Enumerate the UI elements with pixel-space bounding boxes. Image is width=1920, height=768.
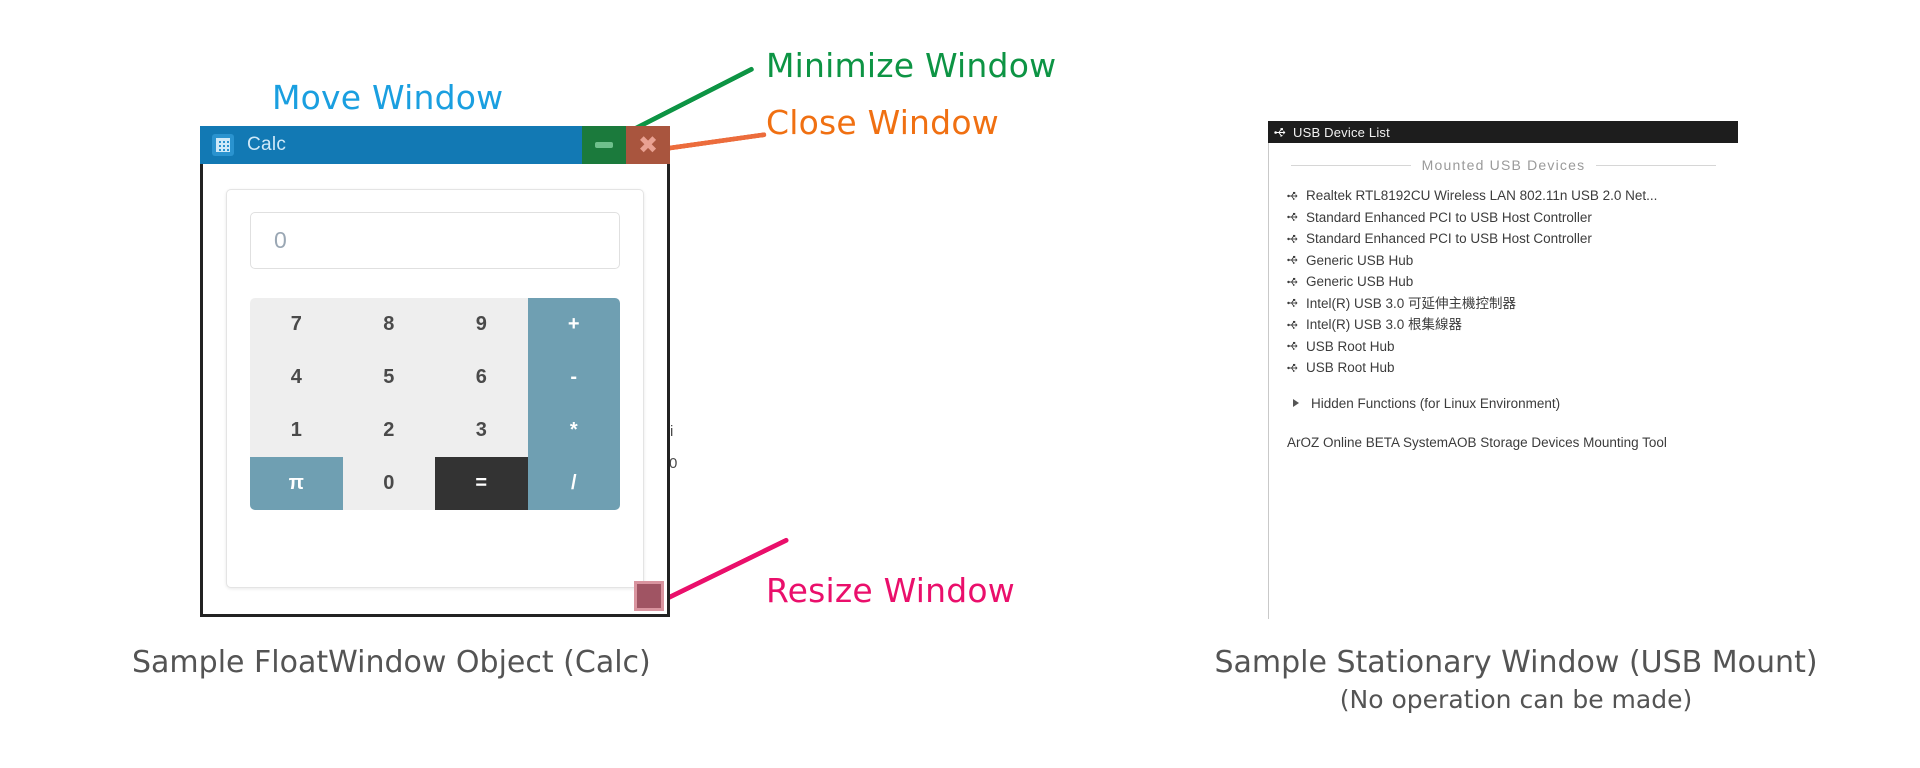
usb-device-item: Generic USB Hub xyxy=(1287,250,1720,272)
calc-key-3[interactable]: 3 xyxy=(435,404,528,457)
calc-key-minus[interactable]: - xyxy=(528,351,621,404)
stationary-window-usb-mount: USB Device List Mounted USB Devices Real… xyxy=(1268,121,1738,619)
usb-device-item: Standard Enhanced PCI to USB Host Contro… xyxy=(1287,207,1720,229)
calc-card: 0 7 8 9 + 4 5 6 - 1 2 3 * π 0 = / xyxy=(226,189,644,588)
usb-device-list: Realtek RTL8192CU Wireless LAN 802.11n U… xyxy=(1287,185,1720,379)
usb-device-label: Generic USB Hub xyxy=(1306,254,1413,268)
calc-window-body: 0 7 8 9 + 4 5 6 - 1 2 3 * π 0 = / xyxy=(200,164,670,617)
usb-icon xyxy=(1287,276,1299,288)
usb-device-label: Generic USB Hub xyxy=(1306,275,1413,289)
minimize-button[interactable] xyxy=(582,126,626,164)
calc-key-multiply[interactable]: * xyxy=(528,404,621,457)
calc-key-9[interactable]: 9 xyxy=(435,298,528,351)
usb-device-label: Intel(R) USB 3.0 可延伸主機控制器 xyxy=(1306,297,1516,311)
usb-device-item: Realtek RTL8192CU Wireless LAN 802.11n U… xyxy=(1287,185,1720,207)
calc-key-2[interactable]: 2 xyxy=(343,404,436,457)
calc-key-plus[interactable]: + xyxy=(528,298,621,351)
annotation-minimize-window: Minimize Window xyxy=(766,46,1056,85)
calc-key-4[interactable]: 4 xyxy=(250,351,343,404)
usb-device-item: Intel(R) USB 3.0 可延伸主機控制器 xyxy=(1287,293,1720,315)
usb-titlebar: USB Device List xyxy=(1268,121,1738,143)
usb-icon xyxy=(1274,126,1287,139)
calc-key-6[interactable]: 6 xyxy=(435,351,528,404)
background-text-fragment-1: i xyxy=(670,423,673,440)
usb-icon xyxy=(1287,340,1299,352)
usb-device-label: Standard Enhanced PCI to USB Host Contro… xyxy=(1306,211,1592,225)
resize-handle[interactable] xyxy=(634,581,664,611)
usb-device-label: Intel(R) USB 3.0 根集線器 xyxy=(1306,318,1462,332)
divider-rule-right xyxy=(1596,165,1716,166)
hidden-functions-label: Hidden Functions (for Linux Environment) xyxy=(1311,396,1560,411)
usb-device-label: Realtek RTL8192CU Wireless LAN 802.11n U… xyxy=(1306,189,1657,203)
calc-key-pi[interactable]: π xyxy=(250,457,343,510)
usb-device-label: USB Root Hub xyxy=(1306,361,1395,375)
usb-device-label: Standard Enhanced PCI to USB Host Contro… xyxy=(1306,232,1592,246)
leader-line-close xyxy=(659,132,766,147)
calc-key-7[interactable]: 7 xyxy=(250,298,343,351)
usb-icon xyxy=(1287,211,1299,223)
background-text-fragment-2: 0 xyxy=(669,455,677,472)
annotation-resize-window: Resize Window xyxy=(766,571,1015,610)
calc-key-0[interactable]: 0 xyxy=(343,457,436,510)
usb-section-header-label: Mounted USB Devices xyxy=(1422,157,1586,173)
leader-line-minimize xyxy=(617,66,752,135)
close-icon: ✖ xyxy=(638,133,658,157)
calc-key-5[interactable]: 5 xyxy=(343,351,436,404)
calc-display-input[interactable]: 0 xyxy=(250,212,620,269)
annotation-close-window: Close Window xyxy=(766,103,999,142)
usb-footer-text: ArOZ Online BETA SystemAOB Storage Devic… xyxy=(1287,435,1720,450)
usb-window-title: USB Device List xyxy=(1293,125,1390,140)
caption-float-window: Sample FloatWindow Object (Calc) xyxy=(132,645,651,680)
usb-device-label: USB Root Hub xyxy=(1306,340,1395,354)
calc-window-title: Calc xyxy=(247,134,286,156)
caption-stationary-main: Sample Stationary Window (USB Mount) xyxy=(1214,645,1817,680)
usb-icon xyxy=(1287,297,1299,309)
usb-device-item: USB Root Hub xyxy=(1287,336,1720,358)
usb-icon xyxy=(1287,190,1299,202)
usb-icon xyxy=(1287,362,1299,374)
calculator-icon xyxy=(212,134,234,156)
close-button[interactable]: ✖ xyxy=(626,126,670,164)
annotation-move-window: Move Window xyxy=(272,78,503,117)
usb-window-body: Mounted USB Devices Realtek RTL8192CU Wi… xyxy=(1268,143,1738,619)
usb-device-item: Intel(R) USB 3.0 根集線器 xyxy=(1287,314,1720,336)
caption-stationary-window: Sample Stationary Window (USB Mount) (No… xyxy=(1136,645,1896,714)
divider-rule-left xyxy=(1291,165,1411,166)
usb-device-item: USB Root Hub xyxy=(1287,357,1720,379)
usb-device-item: Standard Enhanced PCI to USB Host Contro… xyxy=(1287,228,1720,250)
usb-icon xyxy=(1287,254,1299,266)
float-window-calc[interactable]: Calc ✖ 0 7 8 9 + 4 5 6 - 1 2 3 * xyxy=(200,126,670,617)
minimize-icon xyxy=(595,142,613,148)
calc-key-equals[interactable]: = xyxy=(435,457,528,510)
calc-key-1[interactable]: 1 xyxy=(250,404,343,457)
calc-key-divide[interactable]: / xyxy=(528,457,621,510)
calc-key-8[interactable]: 8 xyxy=(343,298,436,351)
calc-keypad: 7 8 9 + 4 5 6 - 1 2 3 * π 0 = / xyxy=(250,298,620,510)
usb-section-header: Mounted USB Devices xyxy=(1291,157,1716,173)
caption-stationary-sub: (No operation can be made) xyxy=(1136,685,1896,714)
calc-titlebar[interactable]: Calc ✖ xyxy=(200,126,670,164)
usb-icon xyxy=(1287,319,1299,331)
usb-icon xyxy=(1287,233,1299,245)
chevron-right-icon xyxy=(1293,399,1299,407)
usb-device-item: Generic USB Hub xyxy=(1287,271,1720,293)
hidden-functions-accordion[interactable]: Hidden Functions (for Linux Environment) xyxy=(1287,396,1720,411)
